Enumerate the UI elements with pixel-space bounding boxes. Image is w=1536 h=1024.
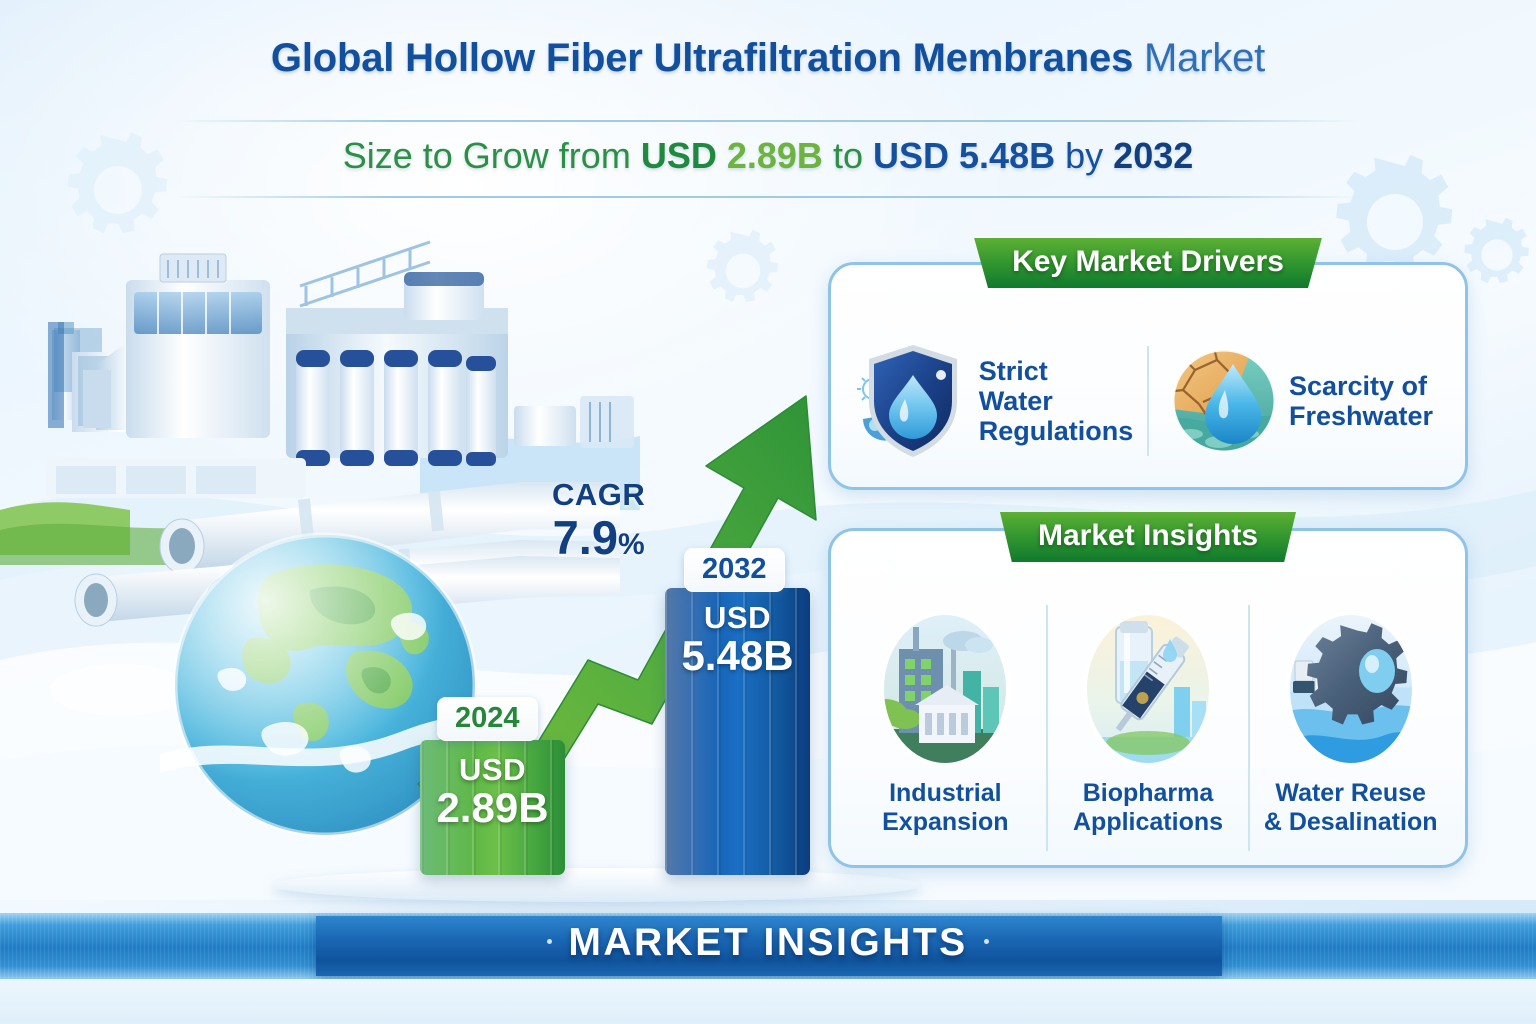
- title-bold-part: Global Hollow Fiber Ultrafiltration Memb…: [271, 36, 1133, 80]
- cracked-earth-water-drop-icon: [1169, 346, 1279, 456]
- insight-label-water-reuse-desalination: Water Reuse & Desalination: [1264, 779, 1438, 836]
- cagr-number: 7.9: [553, 511, 618, 564]
- subtitle-part-7: by: [1065, 135, 1103, 176]
- insight-label-industrial-expansion: Industrial Expansion: [882, 779, 1008, 836]
- bar-2024-amount: 2.89B: [420, 787, 565, 829]
- infographic-root: Global Hollow Fiber Ultrafiltration Memb…: [0, 0, 1536, 1024]
- ribbon-dot-left: [547, 939, 552, 944]
- gear-icon-bg-center: [700, 228, 786, 314]
- footer-ribbon-text: MARKET INSIGHTS: [0, 921, 1536, 965]
- shield-water-drop-icon: [857, 341, 969, 461]
- bar-2032: USD 5.48B: [665, 588, 810, 875]
- bar-2024-year-label: 2024: [437, 697, 538, 741]
- subtitle-part-3: 2.89B: [727, 135, 823, 176]
- bar-2032-year-label: 2032: [684, 548, 785, 592]
- insight-label-line2: & Desalination: [1264, 808, 1438, 837]
- subtitle-part-6: 5.48B: [959, 135, 1055, 176]
- ribbon-dot-right: [984, 939, 989, 944]
- insight-label-line1: Biopharma: [1073, 779, 1223, 808]
- gear-icon-bg-topright-small: [1458, 216, 1536, 294]
- title-light-part: Market: [1144, 36, 1265, 80]
- divider-top: [175, 120, 1361, 122]
- driver-label-line2: Water: [979, 386, 1134, 416]
- subtitle-part-1: Size to Grow from: [343, 135, 631, 176]
- page-title: Global Hollow Fiber Ultrafiltration Memb…: [0, 36, 1536, 80]
- gear-water-icon: [1281, 609, 1421, 769]
- bar-2024-currency: USD: [420, 754, 565, 785]
- cagr-value: 7.9%: [552, 514, 645, 561]
- chart-platform: [272, 868, 922, 902]
- key-market-drivers-banner: Key Market Drivers: [974, 238, 1322, 288]
- driver-item-strict-water-regulations[interactable]: Strict Water Regulations: [843, 341, 1147, 461]
- footer-fade: [0, 979, 1536, 1024]
- bar-2024-value: USD 2.89B: [420, 754, 565, 829]
- driver-label-strict-water-regulations: Strict Water Regulations: [979, 356, 1134, 447]
- insight-label-biopharma-applications: Biopharma Applications: [1073, 779, 1223, 836]
- bar-2032-currency: USD: [665, 602, 810, 633]
- insight-label-line2: Expansion: [882, 808, 1008, 837]
- cagr-percent-sign: %: [618, 528, 645, 561]
- driver-label-line3: Regulations: [979, 416, 1134, 446]
- subtitle-part-4: to: [833, 135, 863, 176]
- syringe-vial-icon: [1078, 609, 1218, 769]
- industrial-city-icon: [875, 609, 1015, 769]
- footer-ribbon-label: MARKET INSIGHTS: [568, 921, 967, 964]
- driver-item-scarcity-of-freshwater[interactable]: Scarcity of Freshwater: [1147, 346, 1453, 456]
- insight-item-biopharma-applications[interactable]: Biopharma Applications: [1046, 605, 1249, 851]
- insight-label-line2: Applications: [1073, 808, 1223, 837]
- subtitle-part-8: 2032: [1113, 135, 1193, 176]
- driver-label-line1: Strict: [979, 356, 1134, 386]
- insights-row: Industrial Expansion: [845, 605, 1451, 851]
- cagr-label: CAGR: [552, 477, 645, 513]
- insight-label-line1: Industrial: [882, 779, 1008, 808]
- insight-item-water-reuse-desalination[interactable]: Water Reuse & Desalination: [1248, 605, 1451, 851]
- cagr-callout: CAGR 7.9%: [552, 477, 645, 561]
- driver-label-line1: Scarcity of: [1289, 371, 1433, 401]
- insight-item-industrial-expansion[interactable]: Industrial Expansion: [845, 605, 1046, 851]
- subtitle-part-2: USD: [641, 135, 717, 176]
- market-insights-banner: Market Insights: [1000, 512, 1296, 562]
- growth-arrow-icon: [300, 360, 920, 900]
- key-market-drivers-panel: Strict Water Regulations: [828, 262, 1468, 490]
- drivers-row: Strict Water Regulations: [843, 327, 1453, 475]
- subtitle-part-5: USD: [873, 135, 949, 176]
- bar-2032-value: USD 5.48B: [665, 602, 810, 677]
- page-subtitle: Size to Grow from USD 2.89B to USD 5.48B…: [0, 135, 1536, 177]
- bar-2024: USD 2.89B: [420, 740, 565, 875]
- driver-label-line2: Freshwater: [1289, 401, 1433, 431]
- driver-label-scarcity-of-freshwater: Scarcity of Freshwater: [1289, 371, 1433, 431]
- divider-bottom: [175, 196, 1361, 198]
- insight-label-line1: Water Reuse: [1264, 779, 1438, 808]
- bar-2032-amount: 5.48B: [665, 635, 810, 677]
- market-insights-panel: Industrial Expansion: [828, 528, 1468, 868]
